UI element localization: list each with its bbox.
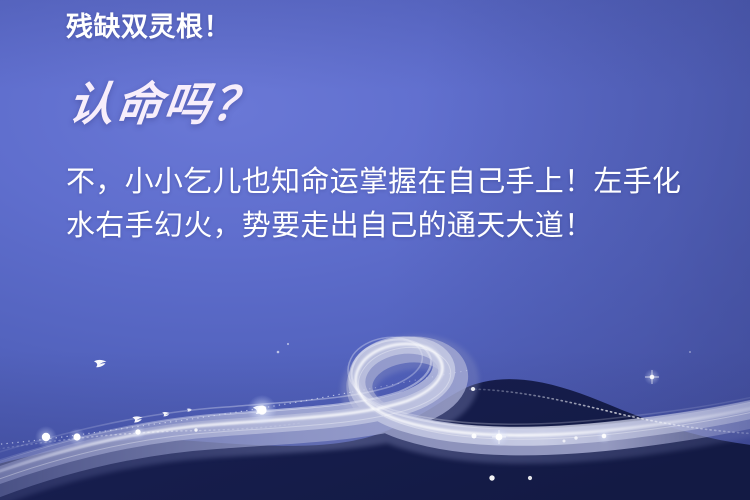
body-copy: 不，小小乞儿也知命运掌握在自己手上！左手化水右手幻火，势要走出自己的通天大道！ — [66, 160, 690, 248]
kicker-line: 残缺双灵根！ — [66, 12, 231, 43]
text-layer: 残缺双灵根！ 认命吗？ 不，小小乞儿也知命运掌握在自己手上！左手化水右手幻火，势… — [0, 0, 750, 500]
headline-question: 认命吗？ — [65, 80, 263, 131]
poster-canvas: 残缺双灵根！ 认命吗？ 不，小小乞儿也知命运掌握在自己手上！左手化水右手幻火，势… — [0, 0, 750, 500]
